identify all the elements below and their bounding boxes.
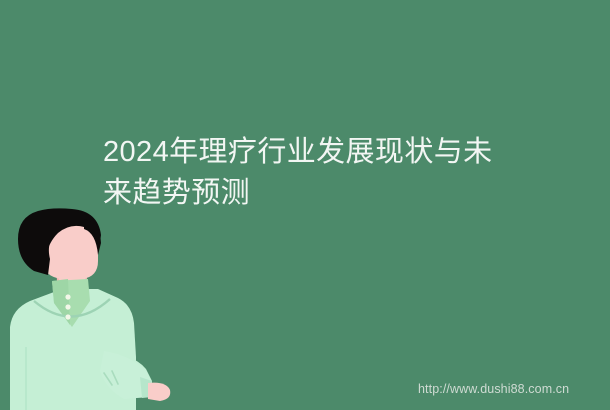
- button-3: [65, 314, 70, 319]
- page-title: 2024年理疗行业发展现状与未来趋势预测: [103, 132, 503, 214]
- person-illustration: [0, 205, 200, 410]
- sweater-group: [10, 289, 170, 410]
- hand: [148, 383, 170, 401]
- button-2: [65, 304, 70, 309]
- watermark-url: http://www.dushi88.com.cn: [418, 381, 569, 397]
- person-illustration-svg: [0, 205, 200, 410]
- article-cover: 2024年理疗行业发展现状与未来趋势预测: [0, 0, 610, 410]
- button-1: [65, 294, 70, 299]
